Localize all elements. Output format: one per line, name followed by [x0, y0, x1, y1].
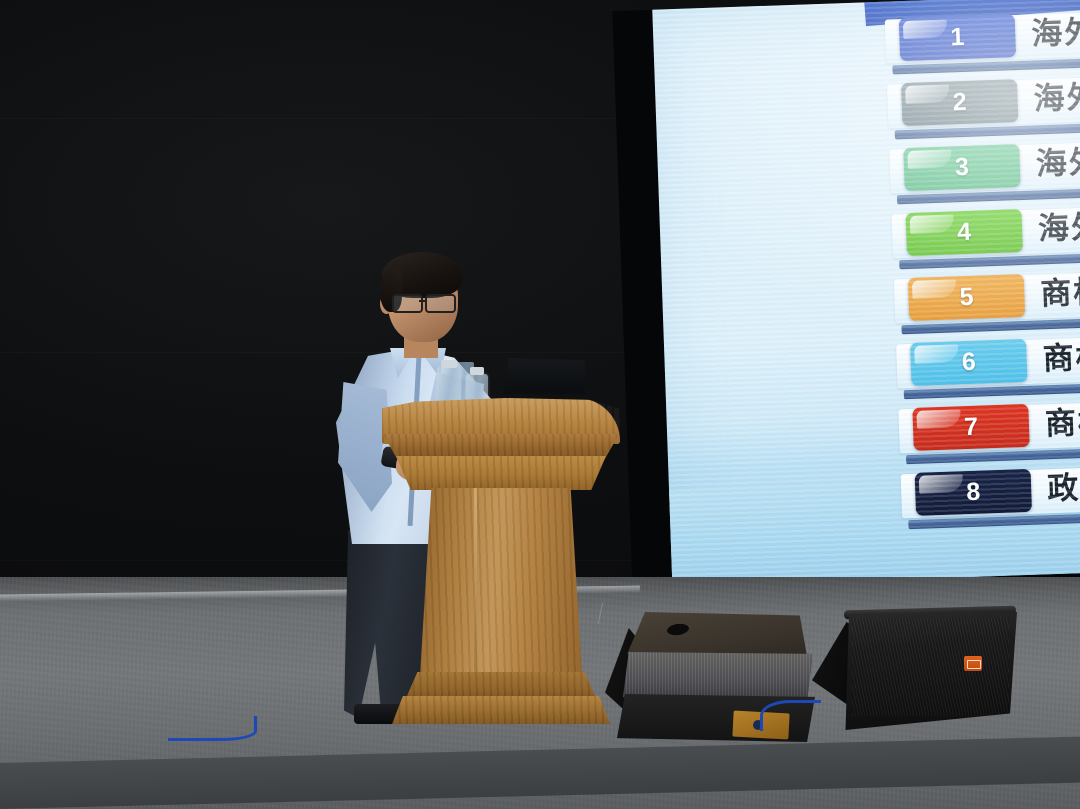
agenda-number: 5: [959, 283, 974, 312]
agenda-number: 2: [952, 88, 967, 117]
slide-agenda-row: 4海外商标: [660, 201, 1080, 276]
bottle-cap: [470, 367, 484, 375]
slide-agenda-row: 5商标品牌: [662, 266, 1080, 341]
podium-base-lower: [392, 696, 610, 724]
agenda-number-badge: 5: [908, 274, 1025, 321]
slide-agenda-list: 1海外商标2海外商标3海外商标4海外商标5商标品牌6商标品牌7商标品牌8政府如何: [652, 0, 1080, 587]
glasses-lens-right: [425, 294, 456, 313]
agenda-number-badge: 6: [910, 339, 1027, 386]
agenda-row-label: 海外商标: [1037, 203, 1080, 252]
monitor-grille: [623, 652, 813, 700]
agenda-number: 1: [950, 23, 965, 52]
monitor-top-face: [627, 612, 807, 656]
slide-agenda-row: 2海外商标: [655, 71, 1080, 146]
agenda-row-label: 海外商标: [1031, 8, 1080, 57]
agenda-row-label: 海外商标: [1035, 138, 1080, 187]
agenda-number-badge: 3: [903, 144, 1020, 191]
podium-column-edge: [474, 488, 477, 676]
laptop-icon: [503, 358, 585, 394]
slide-agenda-row: 3海外商标: [657, 136, 1080, 211]
slide-agenda-row: 1海外商标: [653, 6, 1080, 81]
speaker-cable: [168, 716, 257, 741]
wood-grain: [420, 488, 582, 676]
podium-collar: [396, 456, 606, 490]
wood-grain: [406, 672, 596, 698]
agenda-row-label: 商标品牌: [1044, 398, 1080, 447]
stage-monitor-right: [812, 612, 1017, 742]
podium-column: [420, 488, 582, 676]
glasses-lens-left: [392, 294, 423, 313]
wooden-podium: [378, 392, 624, 732]
slide-surface: 1海外商标2海外商标3海外商标4海外商标5商标品牌6商标品牌7商标品牌8政府如何: [652, 0, 1080, 587]
jbl-logo-icon: [964, 656, 982, 671]
screenshot-root: 1海外商标2海外商标3海外商标4海外商标5商标品牌6商标品牌7商标品牌8政府如何: [0, 0, 1080, 809]
agenda-number: 6: [961, 348, 976, 377]
agenda-number-badge: 7: [912, 404, 1029, 451]
slide-agenda-row: 8政府如何: [669, 461, 1080, 536]
agenda-number: 7: [964, 413, 979, 442]
projection-screen: 1海外商标2海外商标3海外商标4海外商标5商标品牌6商标品牌7商标品牌8政府如何: [612, 0, 1080, 611]
agenda-row-label: 海外商标: [1033, 73, 1080, 122]
bottle-cap: [441, 360, 456, 368]
wood-grain: [392, 696, 610, 724]
slide-agenda-row: 6商标品牌: [664, 331, 1080, 406]
slide-agenda-row: 7商标品牌: [666, 396, 1080, 471]
glasses-icon: [392, 294, 460, 310]
monitor-grille: [842, 612, 1017, 730]
wood-grain: [396, 456, 606, 490]
agenda-number: 3: [955, 153, 970, 182]
agenda-row-label: 商标品牌: [1042, 333, 1080, 382]
agenda-number-badge: 4: [906, 209, 1023, 256]
agenda-number-badge: 2: [901, 79, 1018, 126]
agenda-number: 4: [957, 218, 972, 247]
agenda-number: 8: [966, 478, 981, 507]
podium-base-upper: [406, 672, 596, 698]
agenda-row-label: 政府如何: [1046, 463, 1080, 512]
agenda-row-label: 商标品牌: [1040, 268, 1080, 317]
agenda-number-badge: 8: [915, 469, 1032, 516]
agenda-number-badge: 1: [899, 14, 1016, 61]
